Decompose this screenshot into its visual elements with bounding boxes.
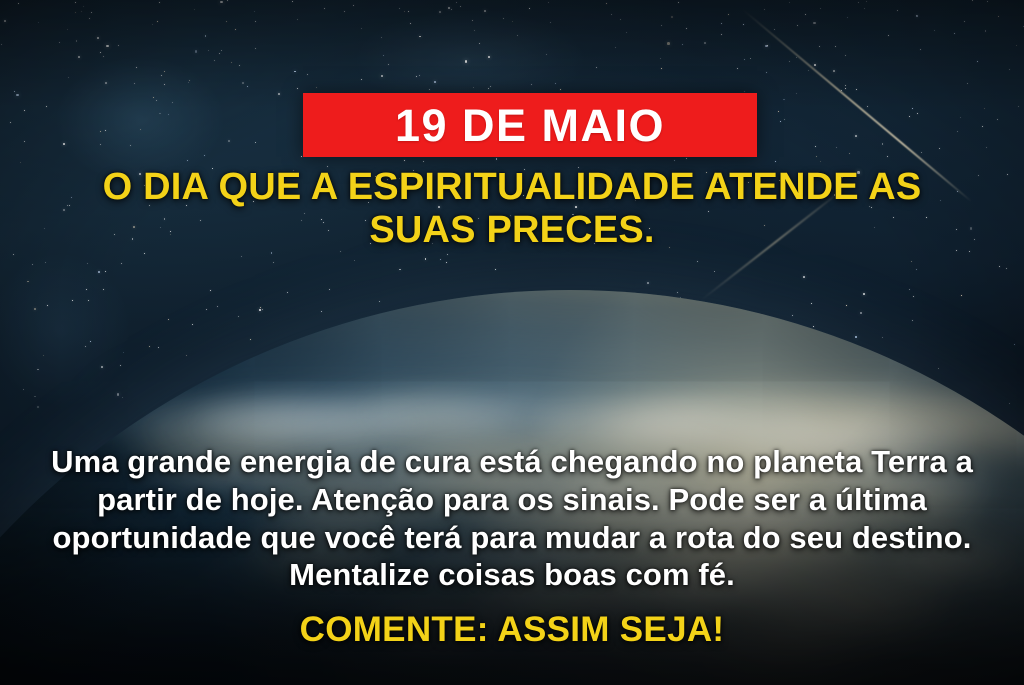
date-banner-text: 19 DE MAIO	[395, 103, 665, 148]
poster-canvas: 19 DE MAIO O DIA QUE A ESPIRITUALIDADE A…	[0, 0, 1024, 685]
body-paragraph: Uma grande energia de cura está chegando…	[0, 443, 1024, 594]
date-banner: 19 DE MAIO	[303, 93, 757, 157]
call-to-action-text: COMENTE: ASSIM SEJA!	[0, 612, 1024, 647]
poster-content: 19 DE MAIO O DIA QUE A ESPIRITUALIDADE A…	[0, 0, 1024, 685]
headline-text: O DIA QUE A ESPIRITUALIDADE ATENDE AS SU…	[0, 166, 1024, 251]
